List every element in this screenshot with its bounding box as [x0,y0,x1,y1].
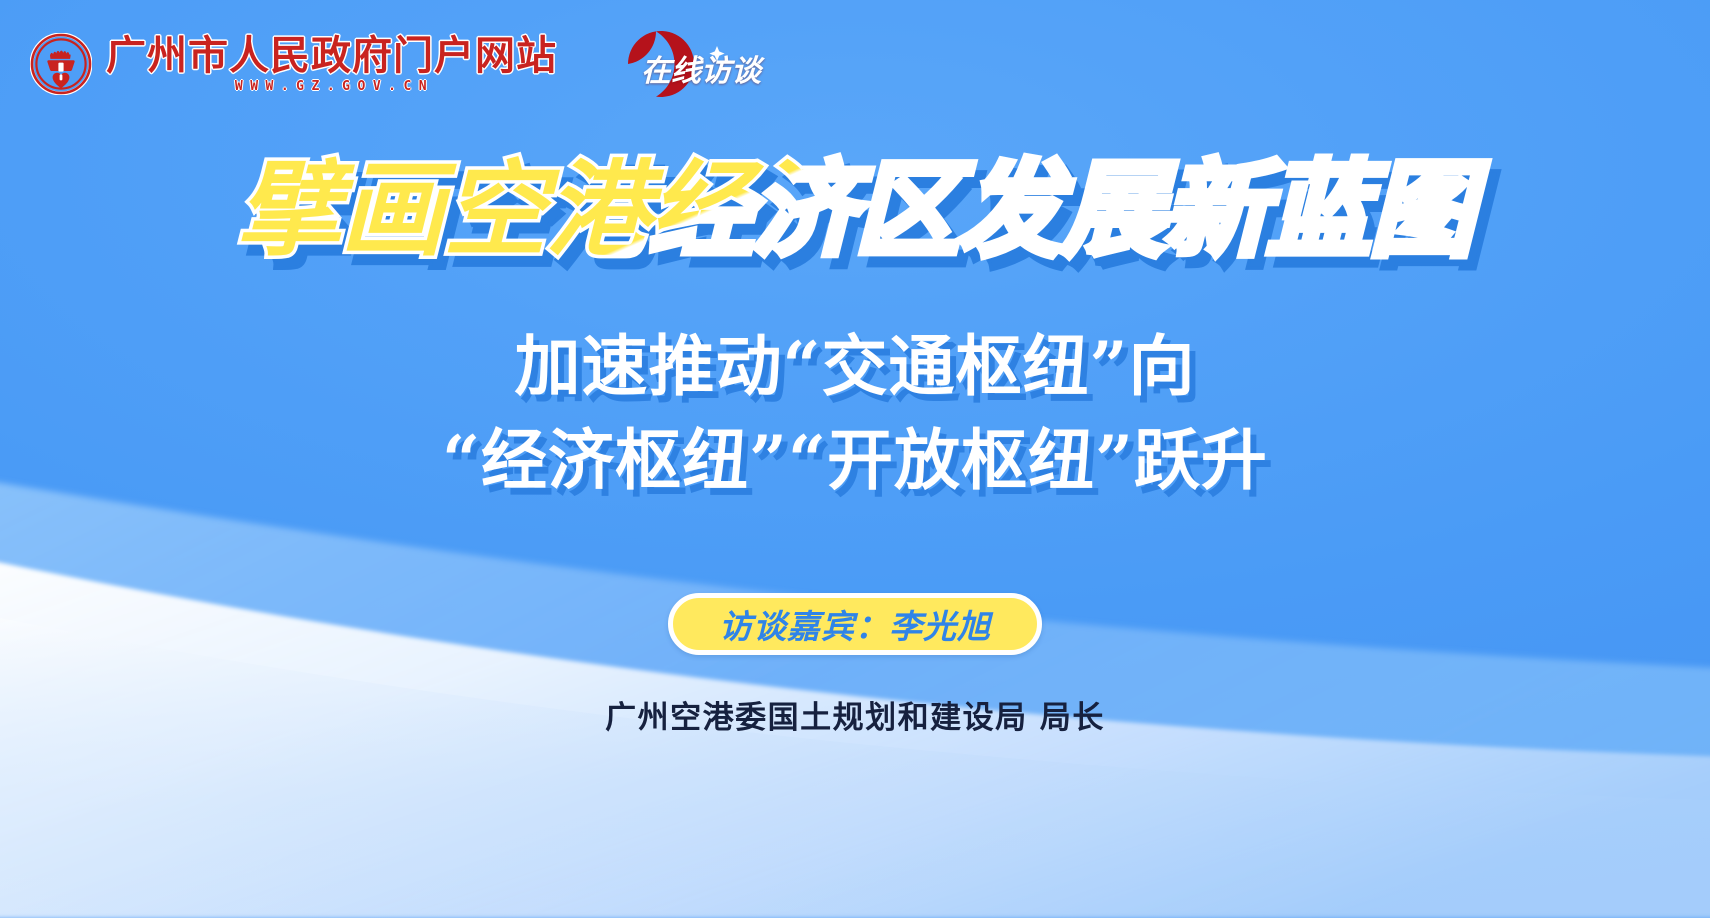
interview-poster: 广州市人民政府门户网站 WWW.GZ.GOV.CN 在线访谈 擘画空港经济区发展… [0,0,1710,918]
gov-site-title: 广州市人民政府门户网站 [106,35,557,77]
online-interview-label: 在线访谈 [641,46,753,90]
poster-subtitle: 加速推动“交通枢纽”向 “经济枢纽”“开放枢纽”跃升 [0,320,1710,507]
subtitle-line-2: “经济枢纽”“开放枢纽”跃升 [0,414,1710,508]
site-header: 广州市人民政府门户网站 WWW.GZ.GOV.CN 在线访谈 [30,24,755,104]
guest-name-badge: 访谈嘉宾：李光旭 [668,593,1042,655]
poster-main-title: 擘画空港经济区发展新蓝图 擘画空港经济区发展新蓝图 擘画空港经济区发展新蓝图 [0,152,1710,268]
guest-badge-row: 访谈嘉宾：李光旭 [0,593,1710,655]
gov-site-url: WWW.GZ.GOV.CN [106,79,557,94]
guangzhou-five-rams-emblem-icon [30,33,92,95]
subtitle-line-1: 加速推动“交通枢纽”向 [0,320,1710,414]
online-interview-logo[interactable]: 在线访谈 [605,26,755,102]
main-title-text: 擘画空港经济区发展新蓝图 [237,149,1473,271]
background-wave-decoration [0,458,1710,918]
gov-portal-logo[interactable]: 广州市人民政府门户网站 WWW.GZ.GOV.CN [30,33,557,95]
guest-affiliation: 广州空港委国土规划和建设局 局长 [0,692,1710,737]
